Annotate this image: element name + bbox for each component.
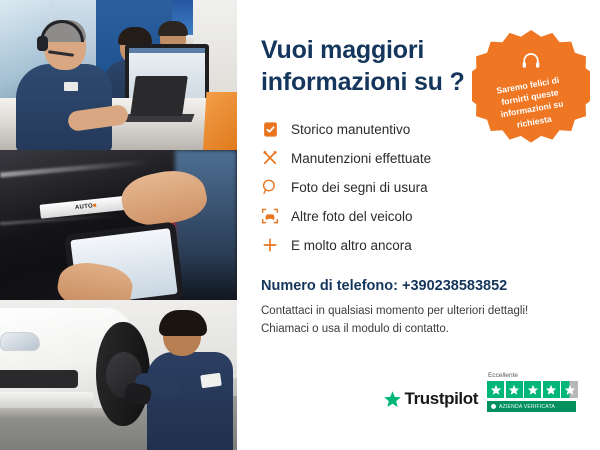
list-item: Altre foto del veicolo xyxy=(261,207,578,225)
list-item-label: Foto dei segni di usura xyxy=(291,180,428,195)
subcopy-line-2: Chiamaci o usa il modulo di contatto. xyxy=(261,321,578,339)
list-item-label: Manutenzioni effettuate xyxy=(291,151,431,166)
verified-company-badge: AZIENDA VERIFICATA xyxy=(487,401,576,412)
star-rating xyxy=(487,381,578,398)
trustpilot-name: Trustpilot xyxy=(405,389,478,409)
trustpilot-star-icon xyxy=(383,390,402,409)
promo-banner: AUTO■ xyxy=(0,0,600,450)
crossed-tools-icon xyxy=(261,149,279,167)
trustpilot-widget[interactable]: Trustpilot Eccellente xyxy=(383,372,578,412)
phone-label: Numero di telefono: xyxy=(261,278,402,294)
plus-icon xyxy=(261,236,279,254)
phone-number[interactable]: +390238583852 xyxy=(402,278,507,294)
star-filled xyxy=(487,381,504,398)
rating-label: Eccellente xyxy=(488,372,518,379)
star-half xyxy=(561,381,578,398)
page-title: Vuoi maggiori informazioni su ? xyxy=(261,34,471,98)
phone-line: Numero di telefono: +390238583852 xyxy=(261,278,578,294)
star-filled xyxy=(506,381,523,398)
list-item-label: E molto altro ancora xyxy=(291,238,412,253)
photo-column: AUTO■ xyxy=(0,0,237,450)
verified-label: AZIENDA VERIFICATA xyxy=(499,404,555,410)
verified-check-icon xyxy=(491,404,496,409)
workshop-wheel-check-photo xyxy=(0,300,237,450)
list-item: E molto altro ancora xyxy=(261,236,578,254)
mechanic xyxy=(147,314,233,450)
checklist-icon xyxy=(261,120,279,138)
content-panel: Vuoi maggiori informazioni su ? Storico … xyxy=(237,0,600,450)
list-item: Manutenzioni effettuate xyxy=(261,149,578,167)
list-item-label: Storico manutentivo xyxy=(291,122,410,137)
headset-icon xyxy=(520,50,542,77)
star-filled xyxy=(543,381,560,398)
badge-text: Saremo felici di fornirti queste informa… xyxy=(481,71,580,135)
star-filled xyxy=(524,381,541,398)
list-item-label: Altre foto del veicolo xyxy=(291,209,413,224)
laptop xyxy=(130,76,188,116)
agent-foreground xyxy=(16,22,112,150)
vehicle-inspection-photo: AUTO■ xyxy=(0,150,237,300)
call-center-agents-photo xyxy=(0,0,237,150)
trustpilot-rating: Eccellente xyxy=(487,372,578,412)
contact-subcopy: Contattaci in qualsiasi momento per ulte… xyxy=(261,303,578,339)
trustpilot-logo: Trustpilot xyxy=(383,389,478,412)
magnifier-icon xyxy=(261,178,279,196)
car-frame-icon xyxy=(261,207,279,225)
subcopy-line-1: Contattaci in qualsiasi momento per ulte… xyxy=(261,303,578,321)
list-item: Foto dei segni di usura xyxy=(261,178,578,196)
